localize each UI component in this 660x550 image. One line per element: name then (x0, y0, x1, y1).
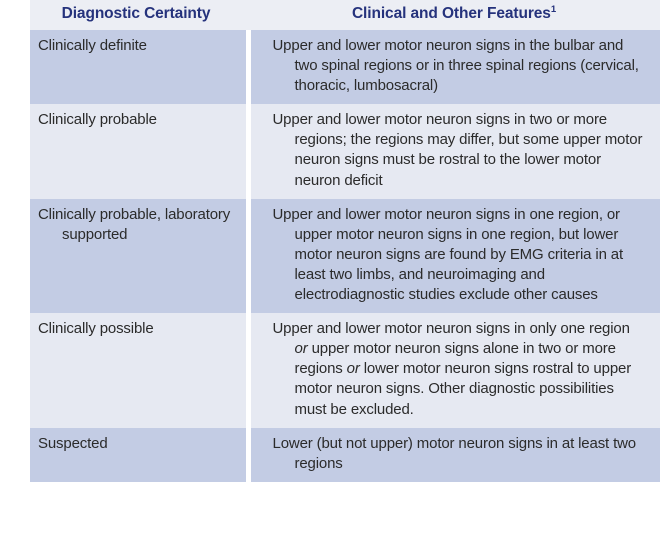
features-text: Upper and lower motor neuron signs in on… (273, 205, 647, 305)
cell-clinical-features: Lower (but not upper) motor neuron signs… (248, 428, 660, 482)
features-emphasis-or-2: or (347, 360, 360, 377)
cell-clinical-features: Upper and lower motor neuron signs in tw… (248, 104, 660, 198)
cell-clinical-features: Upper and lower motor neuron signs in on… (248, 313, 660, 427)
diagnostic-criteria-table-container: Diagnostic Certainty Clinical and Other … (0, 0, 660, 550)
table-row: Suspected Lower (but not upper) motor ne… (0, 428, 660, 482)
features-text: Upper and lower motor neuron signs in th… (273, 36, 647, 96)
footnote-marker: 1 (551, 4, 556, 15)
table-row: Clinically probable, laboratory supporte… (0, 199, 660, 313)
table-body: Clinically definite Upper and lower moto… (0, 30, 660, 482)
cell-diagnostic-certainty: Suspected (0, 428, 248, 482)
column-header-clinical-features: Clinical and Other Features1 (248, 0, 660, 30)
table-header: Diagnostic Certainty Clinical and Other … (0, 0, 660, 30)
certainty-label: Clinically possible (38, 319, 238, 339)
features-text: Upper and lower motor neuron signs in tw… (273, 110, 647, 190)
cell-diagnostic-certainty: Clinically probable (0, 104, 248, 198)
features-text: Lower (but not upper) motor neuron signs… (273, 434, 647, 474)
cell-diagnostic-certainty: Clinically definite (0, 30, 248, 104)
features-emphasis-or-1: or (295, 340, 308, 357)
column-header-diagnostic-certainty: Diagnostic Certainty (0, 0, 248, 30)
cell-diagnostic-certainty: Clinically possible (0, 313, 248, 427)
diagnostic-criteria-table: Diagnostic Certainty Clinical and Other … (0, 0, 660, 482)
table-row: Clinically possible Upper and lower moto… (0, 313, 660, 427)
features-segment-1: Upper and lower motor neuron signs in on… (273, 320, 630, 337)
table-row: Clinically definite Upper and lower moto… (0, 30, 660, 104)
certainty-label: Clinically probable, laboratory supporte… (38, 205, 238, 245)
certainty-label: Suspected (38, 434, 238, 454)
left-margin-gutter (0, 0, 30, 550)
column-header-clinical-features-text: Clinical and Other Features (352, 5, 551, 22)
features-text-composite: Upper and lower motor neuron signs in on… (273, 319, 647, 419)
certainty-label: Clinically probable (38, 110, 238, 130)
cell-clinical-features: Upper and lower motor neuron signs in on… (248, 199, 660, 313)
table-header-row: Diagnostic Certainty Clinical and Other … (0, 0, 660, 30)
cell-clinical-features: Upper and lower motor neuron signs in th… (248, 30, 660, 104)
table-row: Clinically probable Upper and lower moto… (0, 104, 660, 198)
certainty-label: Clinically definite (38, 36, 238, 56)
cell-diagnostic-certainty: Clinically probable, laboratory supporte… (0, 199, 248, 313)
